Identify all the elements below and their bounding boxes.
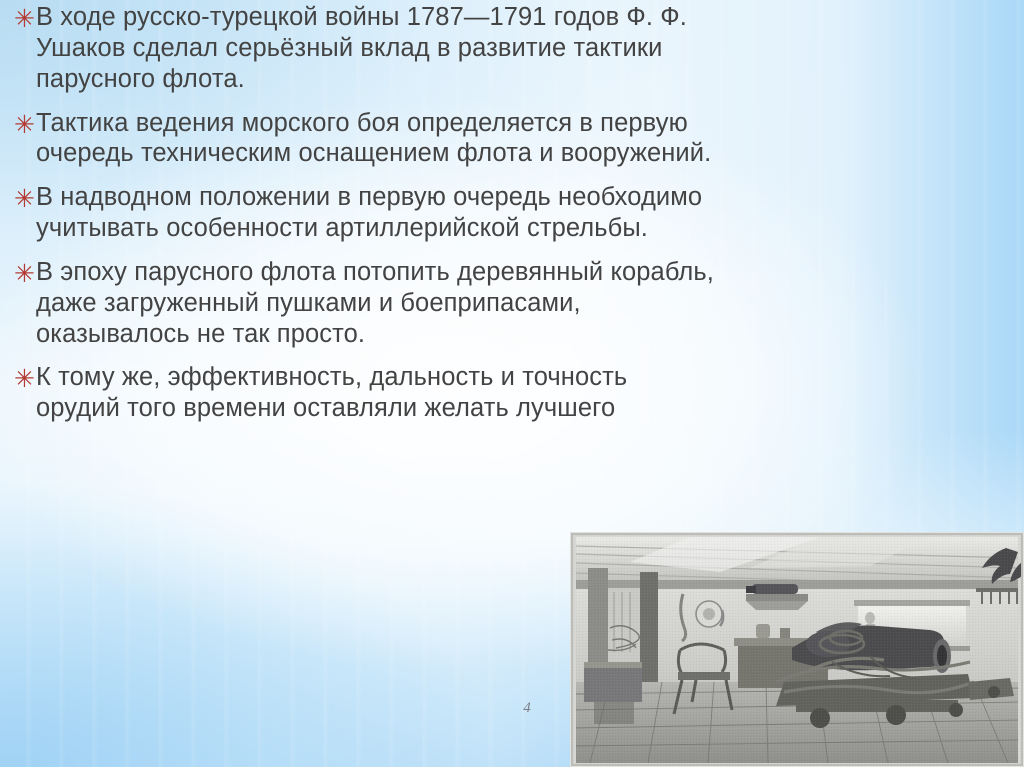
asterisk-bullet-icon: ✳ — [14, 108, 36, 137]
asterisk-bullet-icon: ✳ — [14, 2, 36, 31]
list-item: ✳ В надводном положении в первую очередь… — [14, 182, 714, 244]
list-item: ✳ В эпоху парусного флота потопить дерев… — [14, 257, 714, 350]
asterisk-bullet-icon: ✳ — [14, 182, 36, 211]
list-item: ✳ К тому же, эффективность, дальность и … — [14, 362, 714, 424]
list-item-text: К тому же, эффективность, дальность и то… — [36, 362, 714, 424]
list-item: ✳ В ходе русско-турецкой войны 1787—1791… — [14, 2, 714, 95]
gun-deck-engraving-image — [570, 532, 1024, 767]
slide-number: 4 — [505, 700, 549, 717]
asterisk-bullet-icon: ✳ — [14, 257, 36, 286]
presentation-slide: ✳ В ходе русско-турецкой войны 1787—1791… — [0, 0, 1024, 767]
list-item-text: Тактика ведения морского боя определяетс… — [36, 108, 714, 170]
list-item: ✳ Тактика ведения морского боя определяе… — [14, 108, 714, 170]
list-item-text: В надводном положении в первую очередь н… — [36, 182, 714, 244]
slide-body-text: ✳ В ходе русско-турецкой войны 1787—1791… — [14, 2, 714, 437]
list-item-text: В эпоху парусного флота потопить деревян… — [36, 257, 714, 350]
list-item-text: В ходе русско-турецкой войны 1787—1791 г… — [36, 2, 714, 95]
asterisk-bullet-icon: ✳ — [14, 362, 36, 391]
